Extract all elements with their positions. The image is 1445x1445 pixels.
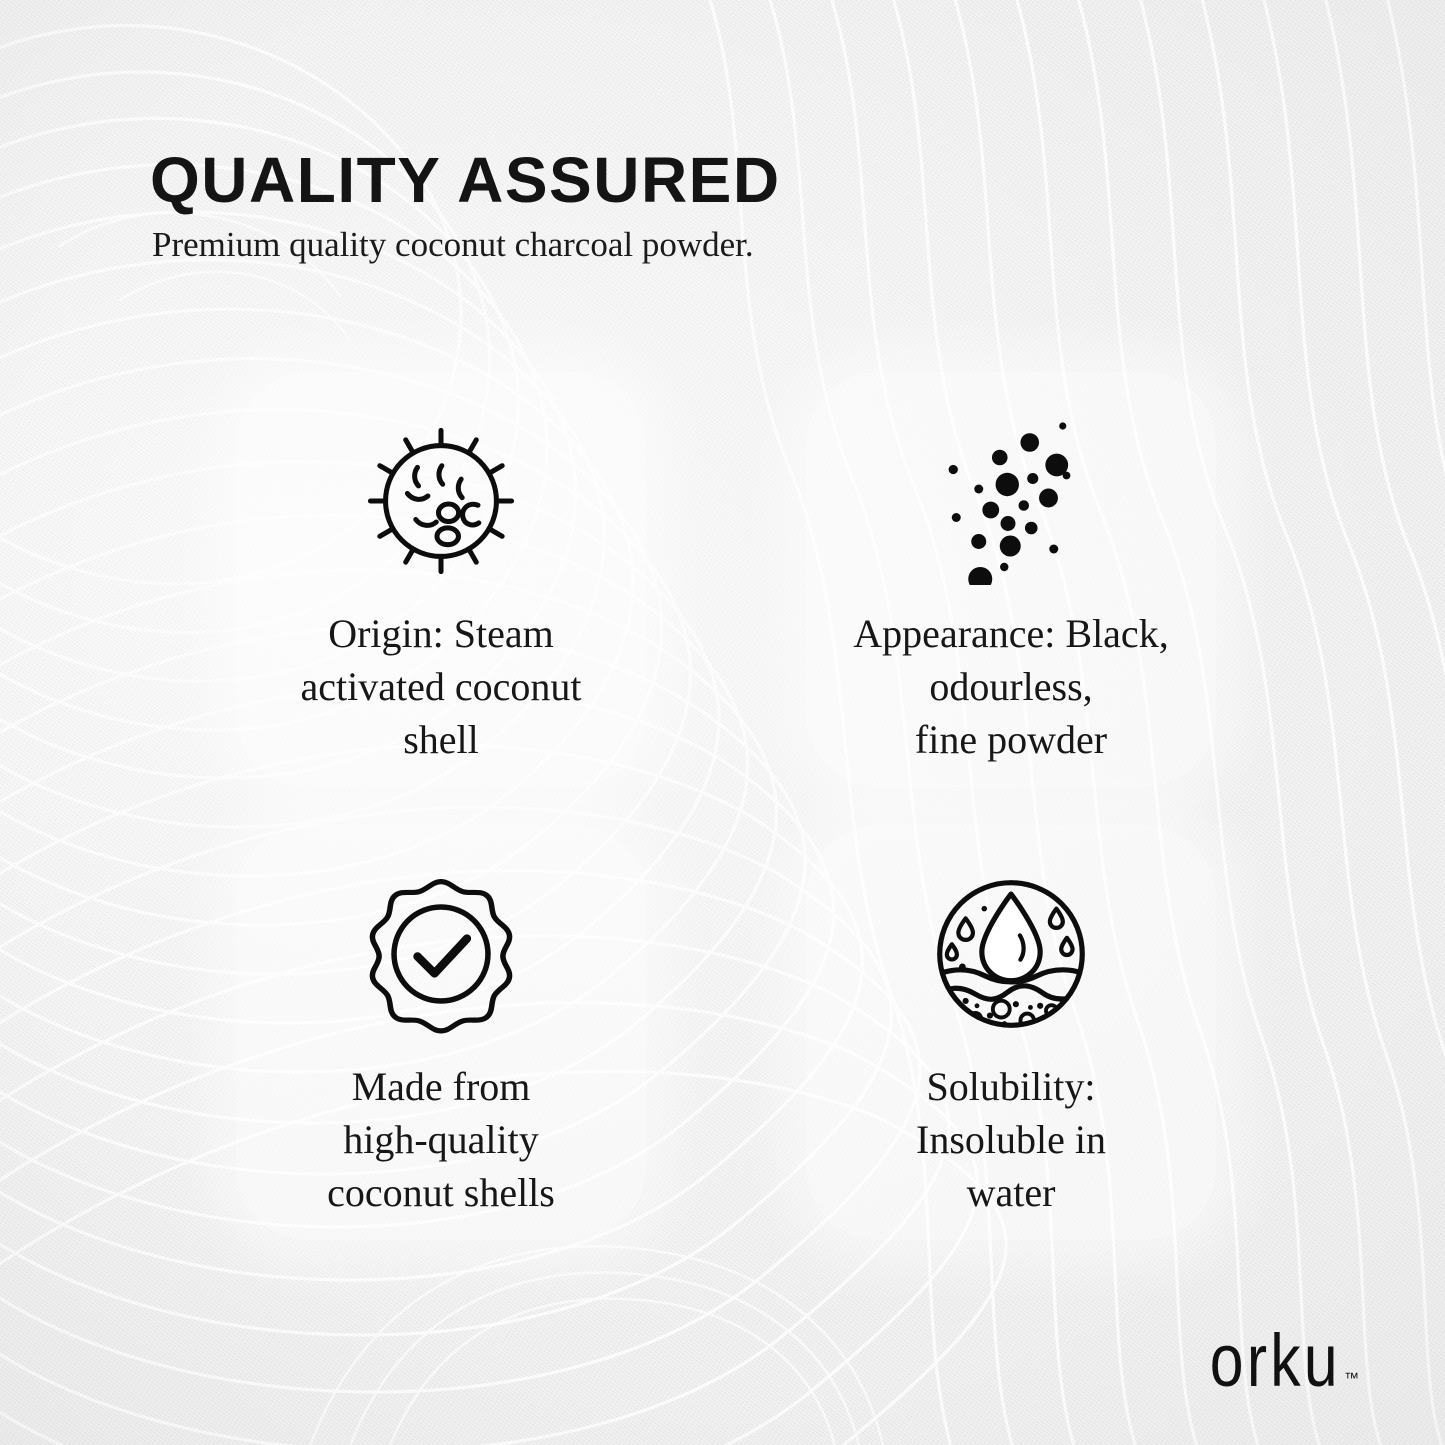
brand-logo-wordmark: orku [1210, 1330, 1341, 1393]
feature-card-origin: Origin: Steam activated coconut shell [236, 372, 646, 787]
feature-card-solubility: Solubility: Insoluble in water [806, 825, 1216, 1240]
feature-card-appearance-label: Appearance: Black, odourless, fine powde… [853, 608, 1168, 766]
feature-card-origin-label: Origin: Steam activated coconut shell [301, 608, 582, 766]
feature-card-quality: Made from high-quality coconut shells [236, 825, 646, 1240]
water-droplet-sediment-icon [926, 869, 1096, 1039]
feature-card-quality-label: Made from high-quality coconut shells [327, 1061, 555, 1219]
page-title: QUALITY ASSURED [150, 148, 1300, 212]
powder-particles-icon [926, 416, 1096, 586]
quality-badge-check-icon [356, 869, 526, 1039]
coconut-shell-icon [356, 416, 526, 586]
feature-card-grid: Origin: Steam activated coconut shell [236, 372, 1236, 1240]
feature-card-appearance: Appearance: Black, odourless, fine powde… [806, 372, 1216, 787]
header: QUALITY ASSURED Premium quality coconut … [150, 148, 1300, 265]
page-subtitle: Premium quality coconut charcoal powder. [152, 225, 1300, 265]
feature-card-solubility-label: Solubility: Insoluble in water [916, 1061, 1106, 1219]
trademark-symbol: ™ [1344, 1370, 1359, 1387]
infographic-canvas: QUALITY ASSURED Premium quality coconut … [0, 0, 1445, 1445]
brand-logo: orku ™ [1181, 1330, 1359, 1393]
